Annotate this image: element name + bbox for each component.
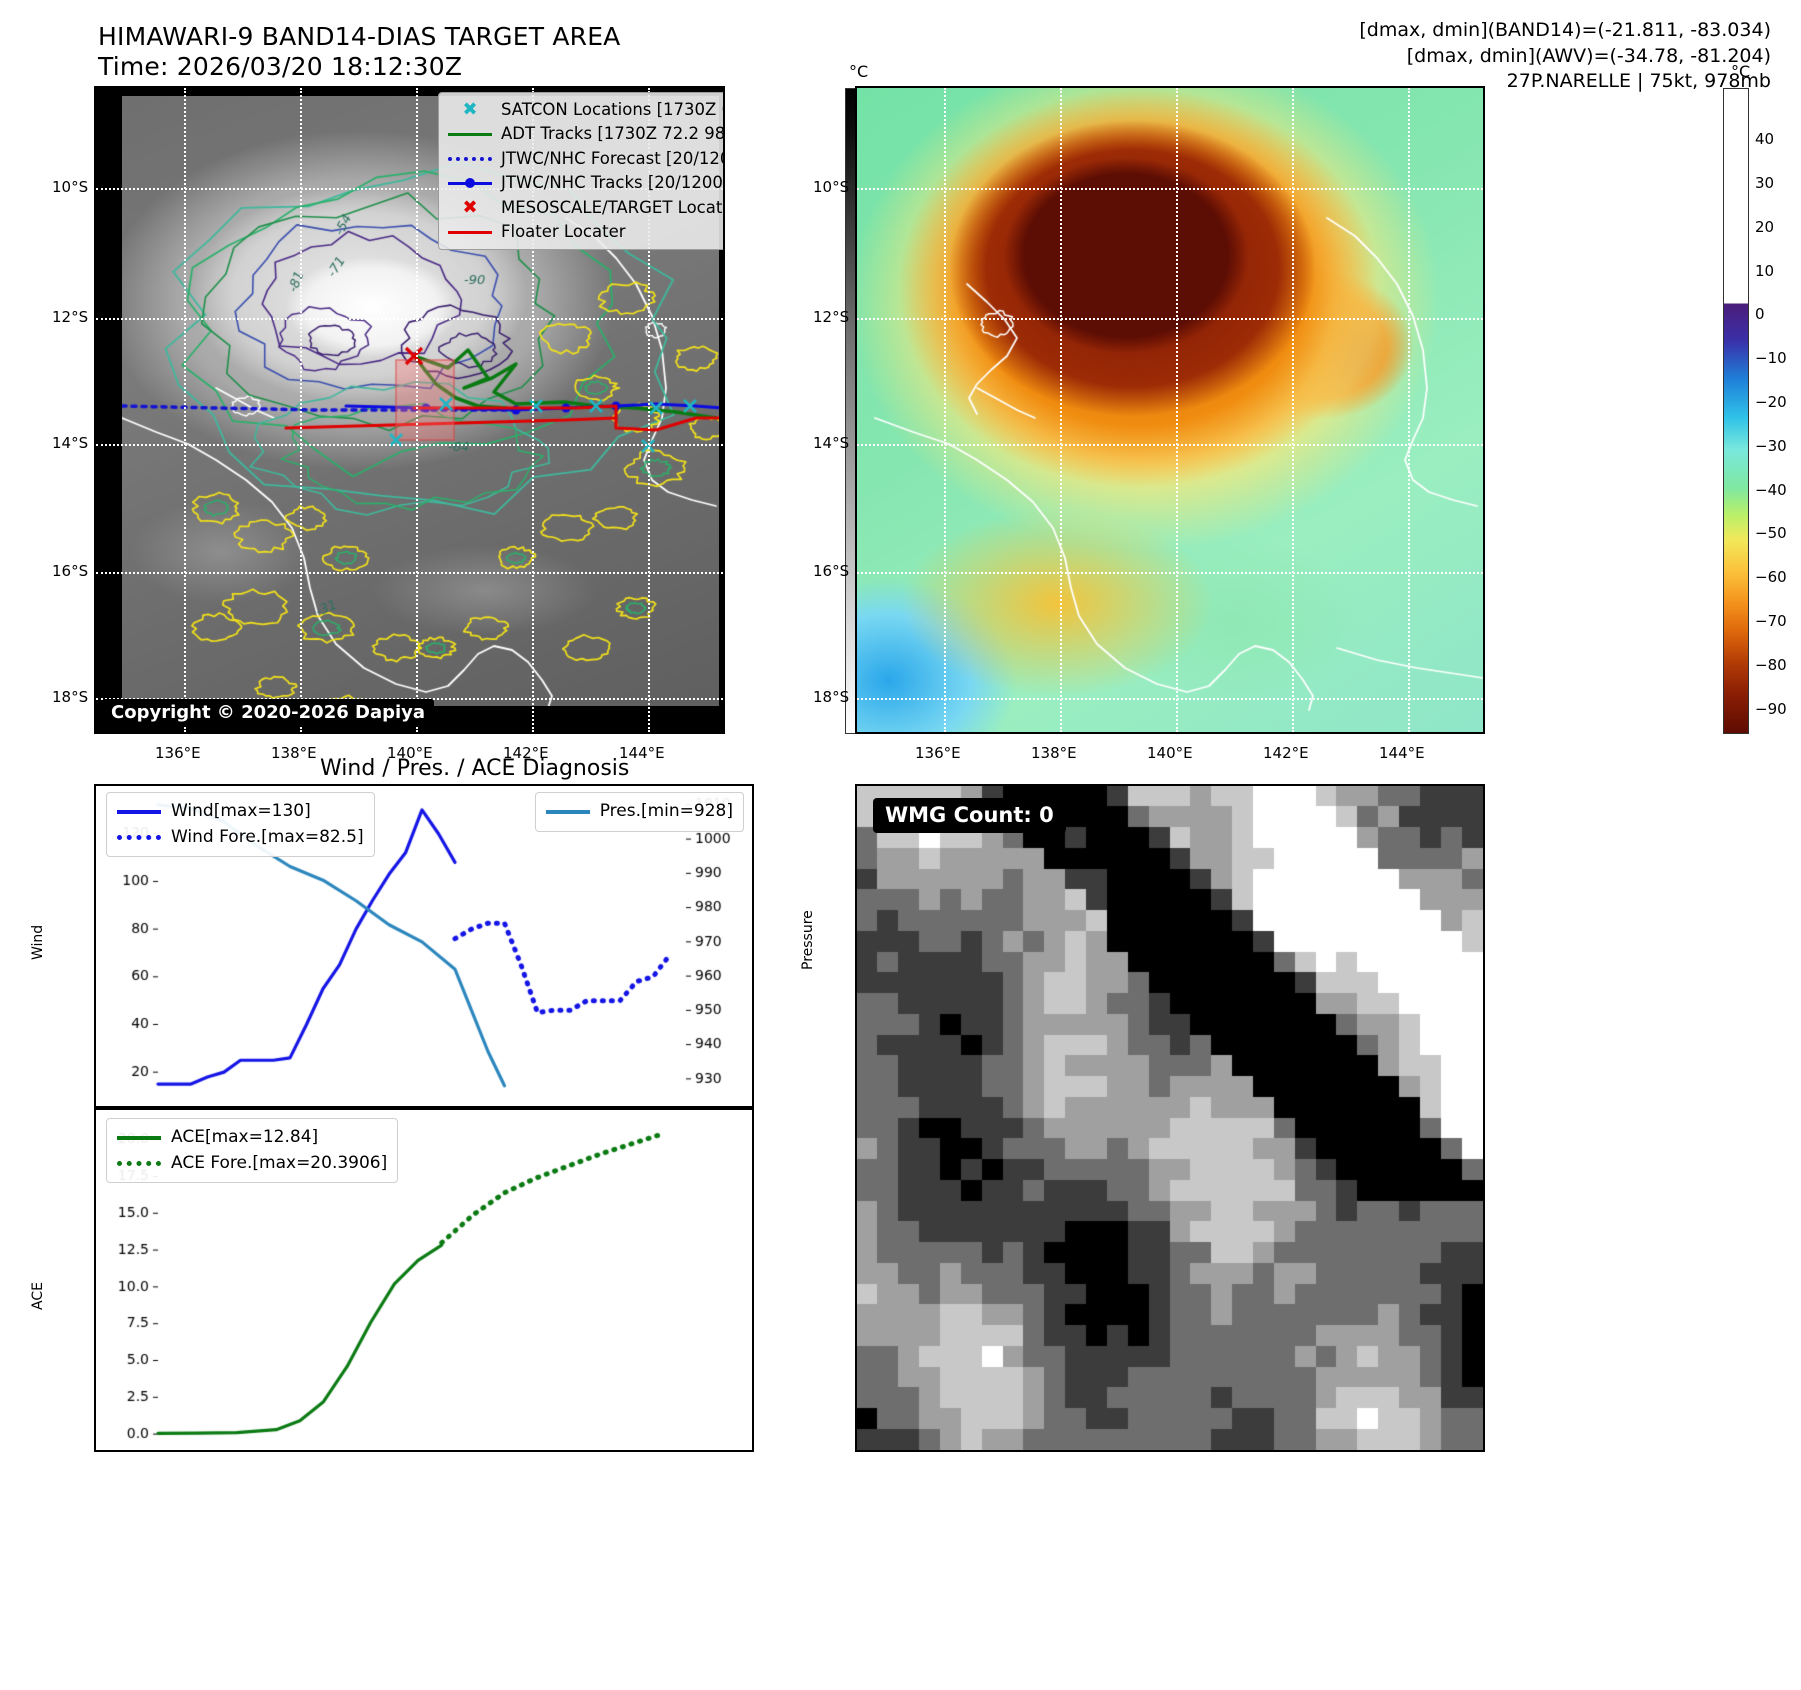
awv-colorbar-title: °C xyxy=(1731,62,1750,81)
legend-item-wind-forecast: Wind Fore.[max=82.5] xyxy=(117,825,364,851)
gridline-lat-16s xyxy=(96,572,723,574)
awv-cb-tick-40: 40 xyxy=(1755,130,1774,148)
legend-item-jtwc-tracks: JTWC/NHC Tracks [20/1200Z] xyxy=(448,171,725,195)
legend-label-ace-forecast: ACE Fore.[max=20.3906] xyxy=(171,1151,387,1177)
satcon-x-icon: ✖ xyxy=(448,101,492,119)
awv-lon-label-144e: 144°E xyxy=(1379,744,1425,762)
awv-gridline-lon-140 xyxy=(1176,88,1178,732)
page-title: HIMAWARI-9 BAND14-DIAS TARGET AREA xyxy=(98,22,621,51)
copyright-badge: Copyright © 2020-2026 Dapiya xyxy=(102,699,434,726)
mesoscale-x-icon: ✖ xyxy=(448,199,492,217)
legend-item-wind: Wind[max=130] xyxy=(117,799,364,825)
awv-cb-tick-30: 30 xyxy=(1755,174,1774,192)
wind-legend: Wind[max=130] Wind Fore.[max=82.5] xyxy=(106,792,375,857)
awv-cb-tick-m70: −70 xyxy=(1755,612,1787,630)
ir-target-area-map[interactable]: ✖ SATCON Locations [1730Z 66 975] ADT Tr… xyxy=(94,86,725,734)
ir-lat-label-18s: 18°S xyxy=(52,688,88,706)
wmg-grid-panel[interactable]: WMG Count: 0 xyxy=(855,784,1485,1452)
ir-lat-label-14s: 14°S xyxy=(52,434,88,452)
ir-lat-label-16s: 16°S xyxy=(52,562,88,580)
pressure-line-icon xyxy=(546,810,590,814)
legend-label-jtwc-forecast: JTWC/NHC Forecast [20/1200Z] xyxy=(501,147,725,171)
floater-line-icon xyxy=(448,231,492,234)
wmg-grid-canvas xyxy=(857,786,1483,1450)
legend-label-wind-forecast: Wind Fore.[max=82.5] xyxy=(171,825,364,851)
legend-item-floater: Floater Locater xyxy=(448,220,725,244)
awv-gridline-lat-10s xyxy=(857,188,1483,190)
awv-gridline-lon-138 xyxy=(1060,88,1062,732)
ir-lon-label-136e: 136°E xyxy=(155,744,201,762)
legend-label-mesoscale: MESOSCALE/TARGET Location xyxy=(501,196,725,220)
legend-item-ace: ACE[max=12.84] xyxy=(117,1125,387,1151)
awv-cb-tick-m90: −90 xyxy=(1755,700,1787,718)
awv-lon-label-136e: 136°E xyxy=(915,744,961,762)
gridline-lon-138 xyxy=(300,88,302,732)
gridline-lon-136 xyxy=(184,88,186,732)
ace-legend: ACE[max=12.84] ACE Fore.[max=20.3906] xyxy=(106,1118,398,1183)
awv-cb-tick-m80: −80 xyxy=(1755,656,1787,674)
ir-left-void xyxy=(96,88,122,732)
wmg-count-badge: WMG Count: 0 xyxy=(873,798,1066,833)
legend-item-jtwc-forecast: JTWC/NHC Forecast [20/1200Z] xyxy=(448,147,725,171)
ir-colorbar-title: °C xyxy=(849,62,868,81)
legend-label-adt: ADT Tracks [1730Z 72.2 980.9] xyxy=(501,122,725,146)
pressure-legend: Pres.[min=928] xyxy=(535,792,744,832)
awv-enhanced-ir-map[interactable] xyxy=(855,86,1485,734)
ir-lon-label-138e: 138°E xyxy=(271,744,317,762)
gridline-lat-14s xyxy=(96,444,723,446)
wind-pressure-chart[interactable]: Wind[max=130] Wind Fore.[max=82.5] Pres.… xyxy=(94,784,754,1108)
awv-gridline-lat-14s xyxy=(857,444,1483,446)
awv-coastline-overlay xyxy=(857,88,1485,734)
map-legend: ✖ SATCON Locations [1730Z 66 975] ADT Tr… xyxy=(438,92,725,250)
awv-cb-tick-m30: −30 xyxy=(1755,437,1787,455)
legend-item-satcon: ✖ SATCON Locations [1730Z 66 975] xyxy=(448,98,725,122)
awv-cb-tick-0: 0 xyxy=(1755,305,1765,323)
awv-gridline-lat-12s xyxy=(857,318,1483,320)
pressure-y-axis-title: Pressure xyxy=(800,910,816,970)
dmax-band14-text: [dmax, dmin](BAND14)=(-21.811, -83.034) xyxy=(1071,18,1771,44)
awv-cb-tick-m40: −40 xyxy=(1755,481,1787,499)
awv-lat-label-16s: 16°S xyxy=(813,562,849,580)
ace-chart[interactable]: ACE[max=12.84] ACE Fore.[max=20.3906] xyxy=(94,1108,754,1452)
awv-gridline-lon-144 xyxy=(1408,88,1410,732)
legend-item-ace-forecast: ACE Fore.[max=20.3906] xyxy=(117,1151,387,1177)
adt-line-icon xyxy=(448,133,492,136)
awv-gridline-lon-142 xyxy=(1292,88,1294,732)
awv-colorbar: 40 30 20 10 0 −10 −20 −30 −40 −50 −60 −7… xyxy=(1723,88,1749,734)
awv-cb-tick-m10: −10 xyxy=(1755,349,1787,367)
gridline-lon-140 xyxy=(416,88,418,732)
awv-lat-label-10s: 10°S xyxy=(813,178,849,196)
awv-lat-label-14s: 14°S xyxy=(813,434,849,452)
awv-cb-tick-m50: −50 xyxy=(1755,524,1787,542)
gridline-lat-12s xyxy=(96,318,723,320)
ace-y-axis-title: ACE xyxy=(30,1282,46,1310)
awv-gridline-lon-136 xyxy=(944,88,946,732)
dmax-awv-text: [dmax, dmin](AWV)=(-34.78, -81.204) xyxy=(1071,44,1771,70)
awv-lat-label-12s: 12°S xyxy=(813,308,849,326)
legend-item-mesoscale: ✖ MESOSCALE/TARGET Location xyxy=(448,196,725,220)
awv-cb-tick-m60: −60 xyxy=(1755,568,1787,586)
ace-line-icon xyxy=(117,1136,161,1140)
wind-forecast-dotted-icon xyxy=(117,835,161,840)
diagnosis-section-title: Wind / Pres. / ACE Diagnosis xyxy=(320,756,629,781)
legend-label-pressure: Pres.[min=928] xyxy=(600,799,733,825)
awv-lon-label-142e: 142°E xyxy=(1263,744,1309,762)
legend-item-adt: ADT Tracks [1730Z 72.2 980.9] xyxy=(448,122,725,146)
ir-lat-label-10s: 10°S xyxy=(52,178,88,196)
wind-y-axis-title: Wind xyxy=(30,925,46,960)
awv-lat-label-18s: 18°S xyxy=(813,688,849,706)
header-right-block: [dmax, dmin](BAND14)=(-21.811, -83.034) … xyxy=(1071,18,1771,95)
awv-lon-label-140e: 140°E xyxy=(1147,744,1193,762)
awv-cb-tick-10: 10 xyxy=(1755,262,1774,280)
legend-label-jtwc-tracks: JTWC/NHC Tracks [20/1200Z] xyxy=(501,171,725,195)
awv-gridline-lat-18s xyxy=(857,698,1483,700)
awv-cb-tick-20: 20 xyxy=(1755,218,1774,236)
wind-line-icon xyxy=(117,810,161,814)
legend-label-satcon: SATCON Locations [1730Z 66 975] xyxy=(501,98,725,122)
legend-label-wind: Wind[max=130] xyxy=(171,799,311,825)
awv-gridline-lat-16s xyxy=(857,572,1483,574)
legend-item-pressure: Pres.[min=928] xyxy=(546,799,733,825)
awv-lon-label-138e: 138°E xyxy=(1031,744,1077,762)
jtwc-forecast-dotted-icon xyxy=(448,157,492,161)
observation-time: Time: 2026/03/20 18:12:30Z xyxy=(98,52,462,81)
legend-label-ace: ACE[max=12.84] xyxy=(171,1125,318,1151)
ir-lat-label-12s: 12°S xyxy=(52,308,88,326)
awv-cb-tick-m20: −20 xyxy=(1755,393,1787,411)
ace-forecast-dotted-icon xyxy=(117,1161,161,1166)
legend-label-floater: Floater Locater xyxy=(501,220,626,244)
jtwc-track-line-icon xyxy=(448,181,492,185)
